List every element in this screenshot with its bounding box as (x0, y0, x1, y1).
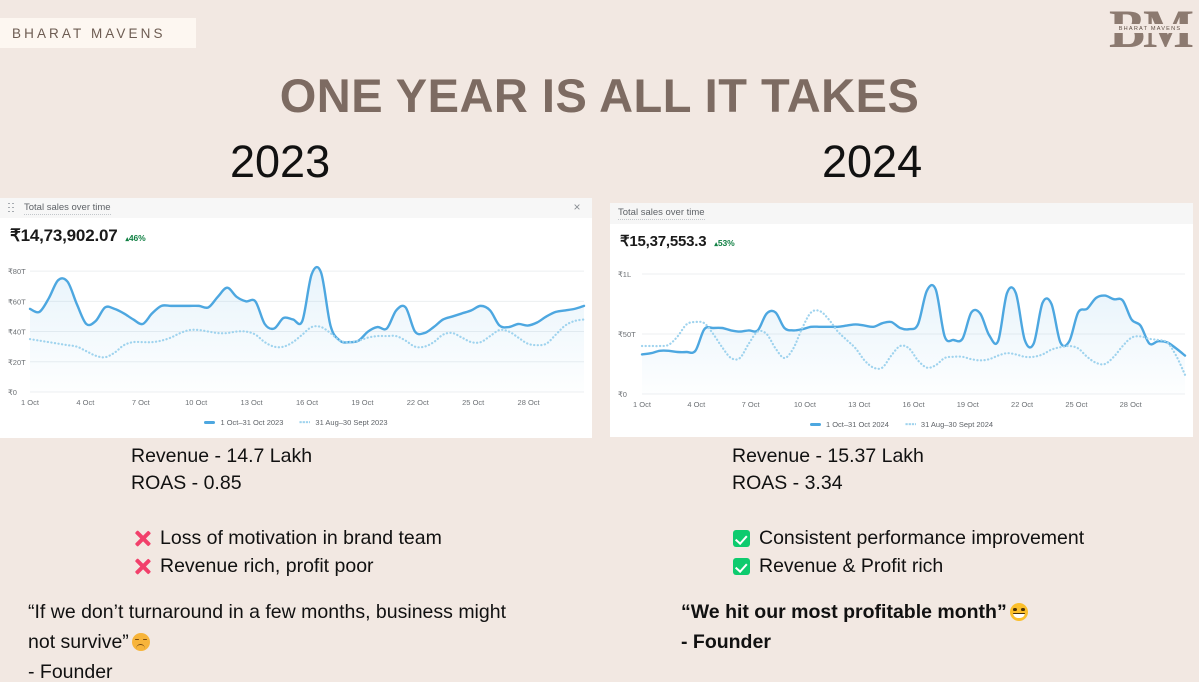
quote-line-1: “If we don’t turnaround in a few months,… (28, 597, 603, 627)
chart-metric-row: ₹14,73,902.07 ▴46% (0, 218, 592, 248)
chart-card-titlebar: Total sales over time × (0, 198, 592, 218)
y-tick-label: ₹80T (8, 267, 26, 276)
chart-metric-value: ₹15,37,553.3 (620, 232, 706, 250)
legend-swatch-dotted-icon (905, 423, 916, 426)
close-icon[interactable]: × (571, 202, 583, 214)
legend-item: 1 Oct–31 Oct 2024 (810, 420, 889, 429)
x-tick-label: 4 Oct (76, 398, 94, 407)
legend-swatch-solid-icon (810, 423, 821, 426)
y-tick-label: ₹0 (8, 388, 17, 397)
quote-block-2023: “If we don’t turnaround in a few months,… (28, 597, 603, 682)
list-item-label: Consistent performance improvement (759, 524, 1084, 552)
x-tick-label: 13 Oct (848, 400, 870, 409)
chart-metric-delta-value: 53% (718, 238, 735, 248)
chart-x-axis-2023: 1 Oct4 Oct7 Oct10 Oct13 Oct16 Oct19 Oct2… (0, 398, 592, 414)
slide-root: BHARAT MAVENS BM BHARAT MAVENS ONE YEAR … (0, 0, 1199, 682)
list-item: Revenue rich, profit poor (134, 552, 442, 580)
brand-logo-subtext: BHARAT MAVENS (1110, 24, 1190, 33)
chart-card-title: Total sales over time (24, 202, 111, 215)
chart-card-title: Total sales over time (618, 207, 705, 220)
x-tick-label: 28 Oct (1120, 400, 1142, 409)
quote-line-2-text: not survive” (28, 631, 129, 653)
quote-line-1-text: “We hit our most profitable month” (681, 601, 1007, 623)
chart-area-fill (642, 285, 1185, 394)
list-item-label: Revenue & Profit rich (759, 552, 943, 580)
x-tick-label: 19 Oct (351, 398, 373, 407)
legend-item: 31 Aug–30 Sept 2023 (299, 418, 387, 427)
x-tick-label: 10 Oct (185, 398, 207, 407)
x-tick-label: 28 Oct (518, 398, 540, 407)
chart-metric-delta: ▴46% (125, 233, 145, 243)
brand-tag: BHARAT MAVENS (0, 18, 196, 48)
quote-block-2024: “We hit our most profitable month” - Fou… (681, 597, 1191, 657)
x-tick-label: 22 Oct (1011, 400, 1033, 409)
x-tick-label: 25 Oct (462, 398, 484, 407)
chart-metric-delta: ▴53% (714, 238, 734, 248)
disappointed-face-emoji (132, 633, 150, 651)
y-tick-label: ₹1L (618, 270, 631, 279)
x-tick-label: 22 Oct (407, 398, 429, 407)
chart-legend-2023: 1 Oct–31 Oct 202331 Aug–30 Sept 2023 (0, 414, 592, 427)
y-tick-label: ₹50T (618, 330, 636, 339)
roas-line: ROAS - 3.34 (732, 470, 924, 497)
y-tick-label: ₹40T (8, 328, 26, 337)
grinning-face-emoji (1010, 603, 1028, 621)
brand-tag-label: BHARAT MAVENS (12, 26, 166, 41)
stats-block-2023: Revenue - 14.7 Lakh ROAS - 0.85 (131, 443, 312, 497)
revenue-line: Revenue - 15.37 Lakh (732, 443, 924, 470)
legend-swatch-dotted-icon (299, 421, 310, 424)
chart-x-axis-2024: 1 Oct4 Oct7 Oct10 Oct13 Oct16 Oct19 Oct2… (610, 400, 1193, 416)
list-item: Loss of motivation in brand team (134, 524, 442, 552)
roas-line: ROAS - 0.85 (131, 470, 312, 497)
year-label-2024: 2024 (822, 136, 922, 188)
brand-logo: BM BHARAT MAVENS (1109, 2, 1191, 64)
x-tick-label: 7 Oct (132, 398, 150, 407)
chart-svg-2023: ₹0₹20T₹40T₹60T₹80T (0, 248, 592, 398)
x-tick-label: 13 Oct (241, 398, 263, 407)
y-tick-label: ₹20T (8, 358, 26, 367)
x-tick-label: 19 Oct (957, 400, 979, 409)
page-title: ONE YEAR IS ALL IT TAKES (0, 68, 1199, 123)
x-tick-label: 7 Oct (742, 400, 760, 409)
legend-label: 31 Aug–30 Sept 2023 (315, 418, 387, 427)
chart-plot-area-2023: ₹0₹20T₹40T₹60T₹80T (0, 248, 592, 398)
bullet-list-2024: Consistent performance improvement Reven… (733, 524, 1084, 580)
list-item: Consistent performance improvement (733, 524, 1084, 552)
legend-label: 31 Aug–30 Sept 2024 (921, 420, 993, 429)
drag-handle-icon[interactable] (8, 203, 17, 214)
legend-item: 31 Aug–30 Sept 2024 (905, 420, 993, 429)
x-tick-label: 4 Oct (687, 400, 705, 409)
chart-metric-row: ₹15,37,553.3 ▴53% (610, 224, 1193, 252)
cross-icon (134, 552, 160, 580)
x-tick-label: 1 Oct (633, 400, 651, 409)
stats-block-2024: Revenue - 15.37 Lakh ROAS - 3.34 (732, 443, 924, 497)
list-item-label: Loss of motivation in brand team (160, 524, 442, 552)
bullet-list-2023: Loss of motivation in brand team Revenue… (134, 524, 442, 580)
legend-label: 1 Oct–31 Oct 2024 (826, 420, 889, 429)
x-tick-label: 10 Oct (794, 400, 816, 409)
legend-label: 1 Oct–31 Oct 2023 (220, 418, 283, 427)
check-icon (733, 524, 759, 552)
cross-icon (134, 524, 160, 552)
revenue-line: Revenue - 14.7 Lakh (131, 443, 312, 470)
quote-attribution: - Founder (28, 657, 603, 682)
chart-area-fill (30, 267, 584, 392)
chart-metric-value: ₹14,73,902.07 (10, 226, 117, 246)
quote-attribution: - Founder (681, 627, 1191, 657)
x-tick-label: 16 Oct (296, 398, 318, 407)
y-tick-label: ₹0 (618, 390, 627, 399)
chart-card-titlebar: Total sales over time (610, 203, 1193, 224)
x-tick-label: 16 Oct (902, 400, 924, 409)
quote-line-2: not survive” (28, 627, 603, 657)
legend-swatch-solid-icon (204, 421, 215, 424)
legend-item: 1 Oct–31 Oct 2023 (204, 418, 283, 427)
list-item-label: Revenue rich, profit poor (160, 552, 374, 580)
y-tick-label: ₹60T (8, 297, 26, 306)
chart-plot-area-2024: ₹0₹50T₹1L (610, 252, 1193, 400)
chart-card-2024: Total sales over time ₹15,37,553.3 ▴53% … (610, 203, 1193, 437)
list-item: Revenue & Profit rich (733, 552, 1084, 580)
chart-legend-2024: 1 Oct–31 Oct 202431 Aug–30 Sept 2024 (610, 416, 1193, 429)
x-tick-label: 25 Oct (1065, 400, 1087, 409)
check-icon (733, 552, 759, 580)
quote-line-1: “We hit our most profitable month” (681, 597, 1191, 627)
x-tick-label: 1 Oct (21, 398, 39, 407)
year-label-2023: 2023 (230, 136, 330, 188)
chart-metric-delta-value: 46% (129, 233, 146, 243)
chart-card-2023: Total sales over time × ₹14,73,902.07 ▴4… (0, 198, 592, 438)
chart-svg-2024: ₹0₹50T₹1L (610, 252, 1193, 400)
